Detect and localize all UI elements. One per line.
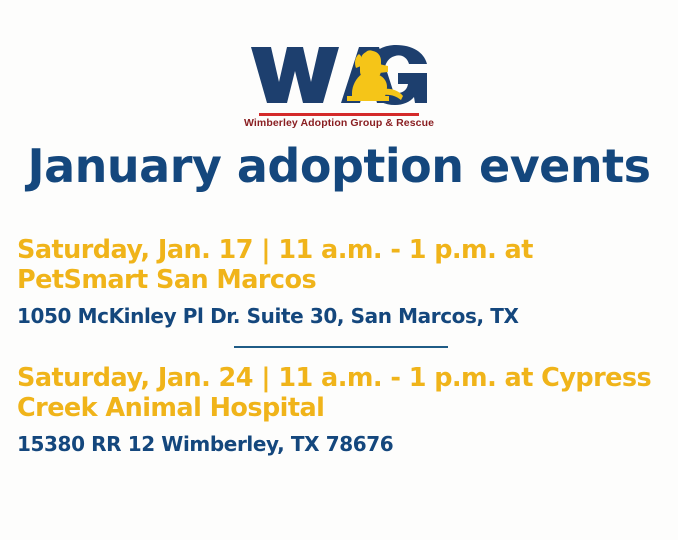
section-divider xyxy=(17,346,665,348)
event-title: Saturday, Jan. 17 | 11 a.m. - 1 p.m. at … xyxy=(17,236,665,295)
events-list: Saturday, Jan. 17 | 11 a.m. - 1 p.m. at … xyxy=(17,236,665,456)
event-title: Saturday, Jan. 24 | 11 a.m. - 1 p.m. at … xyxy=(17,364,665,423)
letter-w xyxy=(251,47,339,103)
wag-logo-svg xyxy=(249,44,429,106)
adoption-events-flyer: Wimberley Adoption Group & Rescue Januar… xyxy=(0,0,678,540)
page-title: January adoption events xyxy=(0,139,678,193)
event-item: Saturday, Jan. 24 | 11 a.m. - 1 p.m. at … xyxy=(17,364,665,456)
event-address: 1050 McKinley Pl Dr. Suite 30, San Marco… xyxy=(17,304,665,328)
logo-tagline: Wimberley Adoption Group & Rescue xyxy=(0,118,678,130)
event-address: 15380 RR 12 Wimberley, TX 78676 xyxy=(17,432,665,456)
wag-logo: Wimberley Adoption Group & Rescue xyxy=(0,44,678,130)
wag-wordmark-graphic xyxy=(249,44,429,106)
logo-red-rule xyxy=(259,113,419,116)
event-item: Saturday, Jan. 17 | 11 a.m. - 1 p.m. at … xyxy=(17,236,665,328)
divider-line xyxy=(234,346,448,348)
